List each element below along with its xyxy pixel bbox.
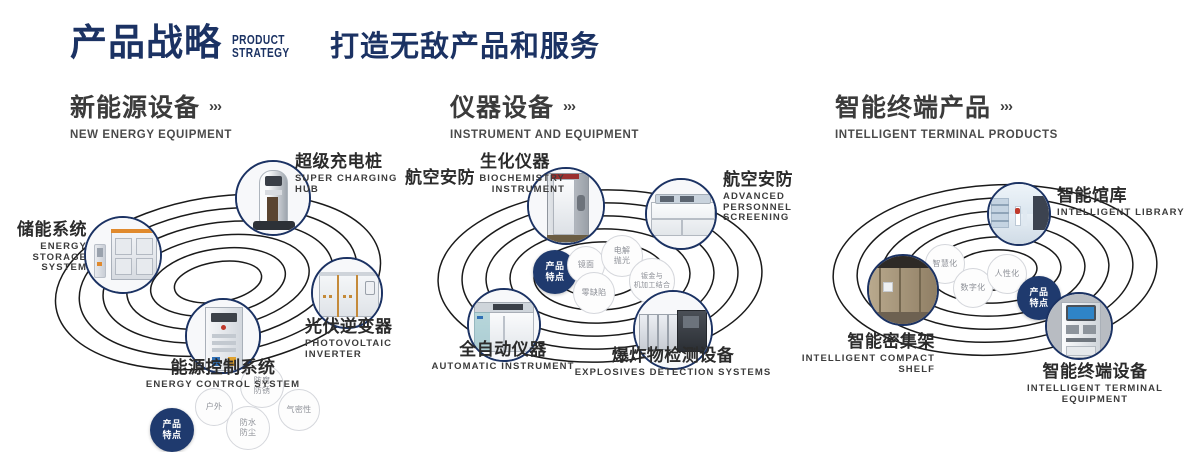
section-title-cn: 新能源设备 [70,96,200,121]
cluster-intelligent: 智慧化 数字化 人性化 产品特点 智能馆库 INTELLIGENT LIBRA [805,150,1200,400]
feature-bubble: 气密性 [278,389,320,431]
label-intelligent-library: 智能馆库 INTELLIGENT LIBRARY [1057,186,1185,219]
label-biochemistry-instrument: 生化仪器 BIOCHEMISTRY INSTRUMENT [465,152,565,195]
label-intelligent-terminal-equipment: 智能终端设备 INTELLIGENT TERMINAL EQUIPMENT [995,362,1195,405]
node-advanced-personnel-screening[interactable] [645,178,717,250]
section-title-en: INSTRUMENT AND EQUIPMENT [450,129,639,141]
energy-storage-photo [86,218,160,292]
section-title-en: INTELLIGENT TERMINAL PRODUCTS [835,129,1058,141]
feature-bubble: 防水 防尘 [226,406,270,450]
feature-bubble: 零缺陷 [573,272,615,314]
section-title-cn: 仪器设备 [450,96,554,121]
page-title: 产品战略 [70,24,222,61]
label-automatic-instrument: 全自动仪器 AUTOMATIC INSTRUMENT [413,340,593,373]
section-heading-instrument: 仪器设备››› INSTRUMENT AND EQUIPMENT [450,96,639,141]
section-heading-new-energy: 新能源设备››› NEW ENERGY EQUIPMENT [70,96,232,141]
screening-photo [647,180,715,248]
cluster-new-energy: 产品特点 户外 防腐 防锈 防水 防尘 气密性 储能系统 ENERGY STOR… [0,150,420,400]
node-intelligent-terminal-equipment[interactable] [1045,292,1113,360]
node-intelligent-compact-shelf[interactable] [867,254,939,326]
page-header: 产品战略 PRODUCT STRATEGY [70,24,306,61]
chevron-right-icon: ››› [1000,98,1012,115]
label-photovoltaic-inverter: 光伏逆变器 PHOTOVOLTAIC INVERTER [305,317,420,360]
label-explosives-detection-system: 爆炸物检测设备 EXPLOSIVES DETECTION SYSTEMS [573,346,773,379]
node-energy-storage-system[interactable] [84,216,162,294]
intelligent-library-photo [989,184,1049,244]
page-title-en: PRODUCT STRATEGY [232,33,290,59]
label-energy-storage-system: 储能系统 ENERGY STORAGE SYSTEM [0,220,87,274]
label-energy-control-system: 能源控制系统 ENERGY CONTROL SYSTEM [108,358,338,391]
chevron-right-icon: ››› [209,98,221,115]
cluster-instrument: 产品特点 镜面 电解 抛光 零缺陷 钣金与 机加工结合 航空安防 生化仪器 BI… [405,150,805,400]
section-title-cn: 智能终端产品 [835,96,991,121]
page-subtitle: 打造无敌产品和服务 [330,33,600,62]
label-advanced-personnel-screening: 航空安防 ADVANCED PERSONNEL SCREENING [723,170,805,224]
section-title-en: NEW ENERGY EQUIPMENT [70,129,232,141]
label-super-charging-hub: 超级充电桩 SUPER CHARGING HUB [295,152,420,195]
node-intelligent-library[interactable] [987,182,1051,246]
compact-shelf-photo [869,256,937,324]
section-heading-intelligent: 智能终端产品››› INTELLIGENT TERMINAL PRODUCTS [835,96,1058,141]
terminal-equipment-photo [1047,294,1111,358]
core-bubble-new-energy: 产品特点 [150,408,194,452]
product-strategy-infographic: 产品战略 PRODUCT STRATEGY 打造无敌产品和服务 新能源设备›››… [0,0,1200,422]
chevron-right-icon: ››› [563,98,575,115]
label-intelligent-compact-shelf: 智能密集架 INTELLIGENT COMPACT SHELF [795,332,935,375]
